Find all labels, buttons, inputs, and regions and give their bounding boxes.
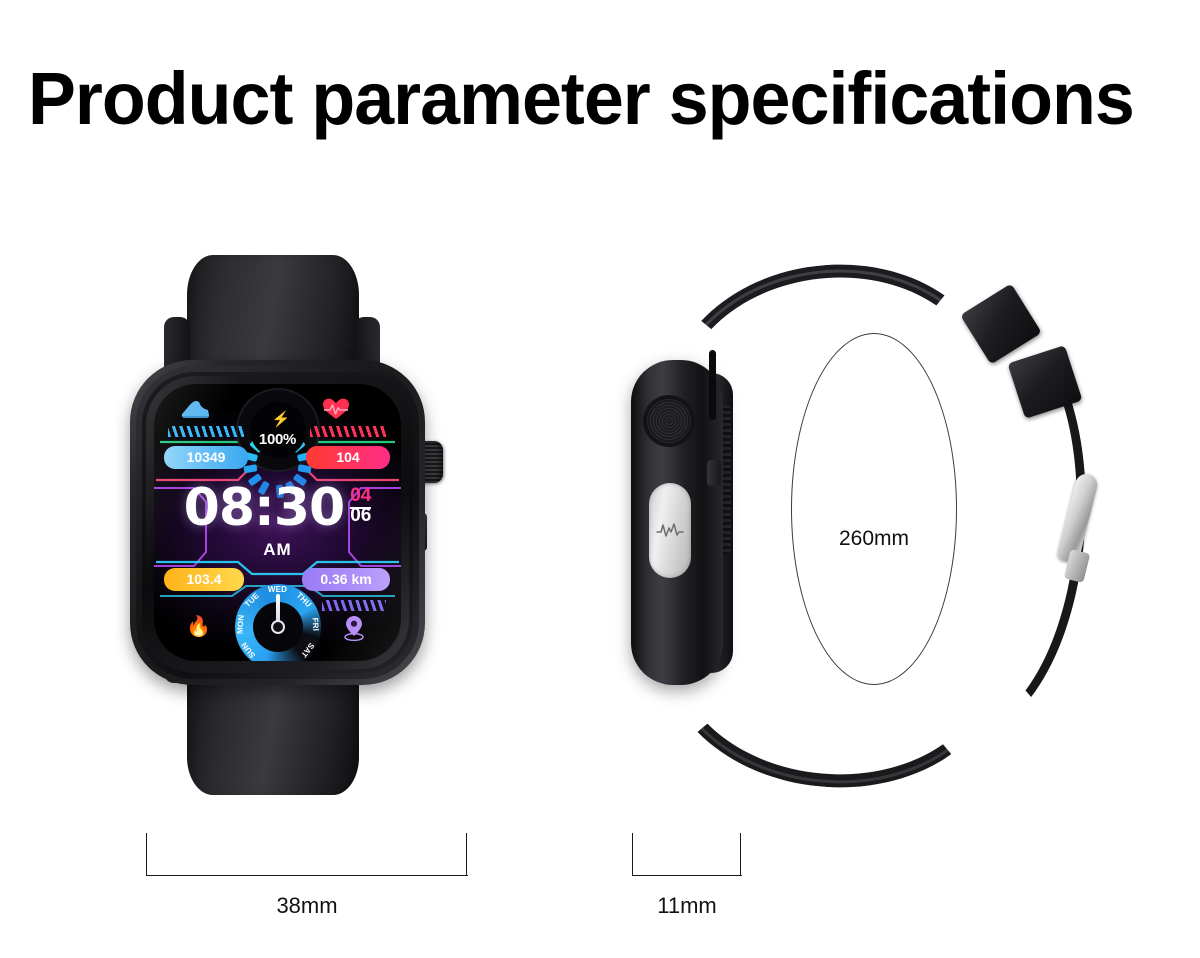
flame-icon: 🔥 <box>186 617 211 637</box>
speaker-slot <box>709 350 716 420</box>
optical-sensor <box>645 397 693 445</box>
heart-rate-hash-bar <box>310 426 386 437</box>
calories-value: 103.4 <box>164 568 244 591</box>
date-month: 06 <box>350 504 371 526</box>
steps-hash-bar <box>168 426 244 437</box>
smartwatch-side-view: 260mm <box>615 255 1135 795</box>
side-button-profile[interactable] <box>707 460 721 486</box>
smartwatch-front-view: ⚡ 100% 10349 104 08:300406 AM 103.4 0.36… <box>130 255 460 795</box>
page-title: Product parameter specifications <box>28 62 1134 136</box>
dimension-thickness-label: 11mm <box>632 893 742 919</box>
distance-hash-bar <box>322 600 386 611</box>
week-dial-pivot <box>273 622 283 632</box>
dimension-width-label: 38mm <box>146 893 468 919</box>
week-day: SAT <box>296 637 319 661</box>
ecg-wave-icon <box>656 519 684 541</box>
lightning-bolt-icon: ⚡ <box>272 412 284 428</box>
heart-rate-value: 104 <box>306 446 390 469</box>
shoe-icon <box>180 398 210 420</box>
date-display: 0406 <box>350 486 371 526</box>
ecg-electrode-pad <box>649 483 691 578</box>
steps-value: 10349 <box>164 446 248 469</box>
week-dial: SUN MON TUE WED THU FRI SAT WEEK <box>235 584 321 661</box>
week-day: FRI <box>310 611 321 638</box>
distance-value: 0.36 km <box>302 568 390 591</box>
week-day: WED <box>265 585 291 594</box>
time-value: 08:30 <box>184 482 345 534</box>
battery-percent-label: 100% <box>238 431 318 448</box>
time-display: 08:300406 <box>154 482 401 534</box>
watch-screen[interactable]: ⚡ 100% 10349 104 08:300406 AM 103.4 0.36… <box>154 384 401 661</box>
week-day: SUN <box>236 637 259 661</box>
heart-pulse-icon <box>322 397 350 421</box>
meridiem-label: AM <box>154 540 401 560</box>
calories-hash-bar <box>168 600 230 611</box>
location-pin-icon <box>342 614 366 642</box>
week-day: MON <box>235 611 246 638</box>
